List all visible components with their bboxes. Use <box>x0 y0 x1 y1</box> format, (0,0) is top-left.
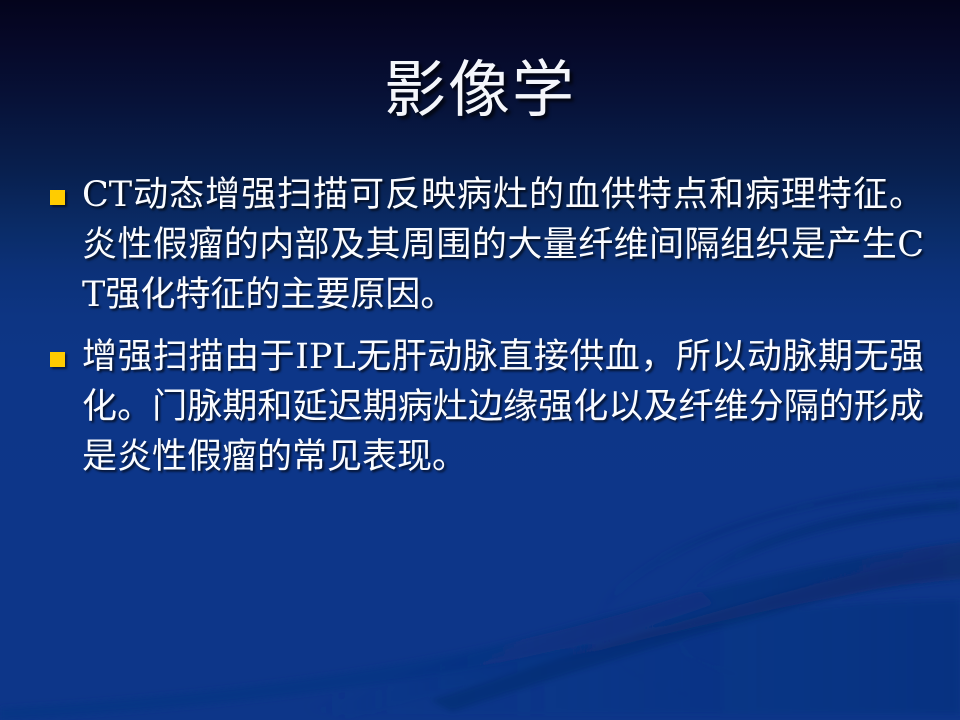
presentation-slide: 影像学 CT动态增强扫描可反映病灶的血供特点和病理特征。炎性假瘤的内部及其周围的… <box>0 0 960 720</box>
swoosh-arc-inner <box>666 500 960 676</box>
square-bullet-icon <box>50 190 65 205</box>
bullet-text-1: CT动态增强扫描可反映病灶的血供特点和病理特征。炎性假瘤的内部及其周围的大量纤维… <box>82 170 924 320</box>
swoosh-tail <box>0 590 714 720</box>
list-item: CT动态增强扫描可反映病灶的血供特点和病理特征。炎性假瘤的内部及其周围的大量纤维… <box>38 170 924 320</box>
list-item: 增强扫描由于IPL无肝动脉直接供血，所以动脉期无强化。门脉期和延迟期病灶边缘强化… <box>38 332 924 482</box>
swoosh-band-lower <box>300 600 960 714</box>
slide-content-placeholder: CT动态增强扫描可反映病灶的血供特点和病理特征。炎性假瘤的内部及其周围的大量纤维… <box>38 170 924 494</box>
swoosh-streak <box>430 552 960 712</box>
swoosh-ribbon-main <box>300 540 960 720</box>
bullet-text-2: 增强扫描由于IPL无肝动脉直接供血，所以动脉期无强化。门脉期和延迟期病灶边缘强化… <box>82 332 924 482</box>
square-bullet-icon <box>50 352 65 367</box>
page-title: 影像学 <box>384 57 576 122</box>
swoosh-arc-outer <box>592 478 960 696</box>
slide-title-placeholder: 影像学 <box>0 42 960 138</box>
swoosh-group <box>0 478 960 720</box>
